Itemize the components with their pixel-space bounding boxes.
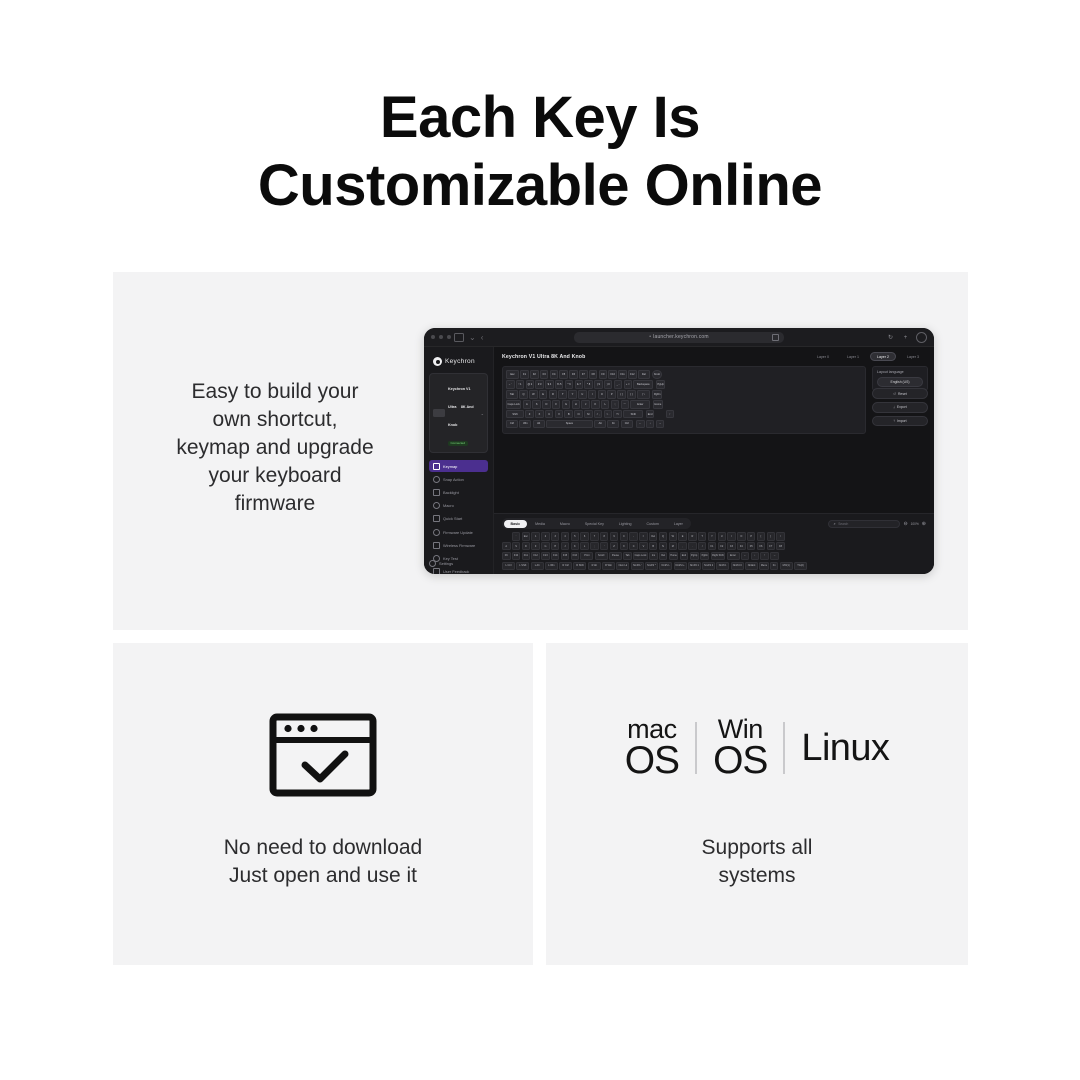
key-8[interactable]: * 8 [584,380,593,389]
sidebar-item-wireless-firmware[interactable]: Wireless Firmware [429,539,488,551]
key-0[interactable]: ) 0 [604,380,613,389]
key-picker-item[interactable]: I [727,532,736,541]
key-picker: BasicMediaMacroSpecial KeyLightingCustom… [494,513,934,574]
sidebar-item-snap-action[interactable]: Snap Action [429,473,488,485]
key-picker-item[interactable]: P [747,532,756,541]
sidebar-item-icon [433,515,440,522]
key-picker-item[interactable]: F1 [708,542,717,551]
key-picker-item[interactable]: Home [669,552,679,561]
key-picker-item[interactable]: Right Shift [711,552,726,561]
key-4[interactable]: $ 4 [545,380,554,389]
key-picker-item[interactable]: O [737,532,746,541]
sidebar-item-keymap[interactable]: Keymap [429,460,488,472]
key-picker-item[interactable]: R Alt [588,562,601,571]
new-tab-icon[interactable]: + [901,333,910,342]
no-download-caption-line-1: No need to download [113,834,533,862]
key-picker-item[interactable]: = [639,532,648,541]
key-picker-item[interactable]: Pause [609,552,622,561]
keyboard-row: EscF1F2F3F4F5F6F7F8F9F10F11F12DelKnob [506,370,862,379]
key-b[interactable]: B [564,410,573,419]
browser-right-controls[interactable]: ↻ + [886,332,927,343]
key-end[interactable]: End [646,410,655,419]
key-1[interactable]: ! 1 [516,380,525,389]
key-h[interactable]: H [572,400,581,409]
key-picker-item[interactable]: L [580,542,589,551]
key-picker-item[interactable]: 2 [541,532,550,541]
key-picker-item[interactable]: [ [757,532,766,541]
close-dot-icon[interactable] [431,335,435,339]
key-picker-item[interactable]: 4 [561,532,570,541]
key-picker-item[interactable]: F9 [502,552,511,561]
sidebar-toggle-icon[interactable] [454,333,464,342]
key-picker-item[interactable]: ; [590,542,599,551]
key-picker-item[interactable]: 6 [580,532,589,541]
key-picker-item[interactable]: MO(1) [780,562,793,571]
key-picker-item[interactable]: PgDn [700,552,709,561]
search-placeholder: Search [838,522,848,526]
page-title-line-2: Customizable Online [0,152,1080,220]
page-title-line-1: Each Key Is [0,84,1080,152]
key-arrow-down[interactable]: ↓ [646,420,655,429]
key-picker-grid: `Esc1234567890-=DelQWERTYUIOP[]\ASDFGHJK… [502,532,926,570]
key-picker-item[interactable]: 8 [600,532,609,541]
key-category-tab-macro[interactable]: Macro [553,520,577,528]
key-picker-item[interactable]: R Ctrl [559,562,572,571]
key-alt[interactable]: Alt [594,420,606,429]
key-picker-row: `Esc1234567890-=DelQWERTYUIOP[]\ [502,532,926,541]
keyboard-row: TabQWERTYUIOP{ [} ]| \PgDn [506,390,862,399]
sidebar-item-quick-start[interactable]: Quick Start [429,513,488,525]
key-ctrl[interactable]: Ctrl [621,420,633,429]
zoom-out-icon[interactable]: ⊖ [903,521,907,527]
keyboard-rows: EscF1F2F3F4F5F6F7F8F9F10F11F12DelKnob~ `… [506,370,862,428]
key-picker-item[interactable]: F4 [737,542,746,551]
key-[interactable]: > . [604,410,613,419]
key-picker-item[interactable]: K [571,542,580,551]
key-arrow-right[interactable]: → [656,420,665,429]
key-[interactable]: { [ [617,390,626,399]
sidebar-item-backlight[interactable]: Backlight [429,486,488,498]
key-category-tab-lighting[interactable]: Lighting [612,520,639,528]
key-picker-item[interactable]: ↑ [760,552,769,561]
winos-logo: Win OS [713,716,767,780]
key-ctrl[interactable]: Ctrl [506,420,518,429]
key-picker-item[interactable]: V [639,542,648,551]
sidebar-item-firmware-update[interactable]: Firmware Update [429,526,488,538]
key-q[interactable]: Q [519,390,528,399]
keychron-mark-icon [433,357,442,366]
layer-tab-layer-0[interactable]: Layer 0 [810,352,836,361]
key-picker-item[interactable]: 5 [571,532,580,541]
app-main: Keychron V1 Ultra 8K And Knob Layer 0Lay… [494,347,934,574]
right-panel: Layout language English (US) ↺Reset⤓Expo… [872,366,928,434]
key-picker-item[interactable]: F7 [767,542,776,551]
key-f12[interactable]: F12 [628,370,637,379]
key-picker-item[interactable]: Menu [759,562,768,571]
sidebar-item-label: Keymap [443,464,457,469]
sidebar-item-icon [433,542,440,549]
key-picker-item[interactable]: F [531,542,540,551]
key-picker-item[interactable]: J [561,542,570,551]
key-u[interactable]: U [578,390,587,399]
key-c[interactable]: C [545,410,554,419]
minimize-dot-icon[interactable] [439,335,443,339]
page-title: Each Key Is Customizable Online [0,84,1080,220]
key-picker-item[interactable]: Q [659,532,668,541]
key-picker-item[interactable]: ` [512,532,521,541]
key-picker-item[interactable]: Del [649,532,658,541]
chevron-down-icon[interactable]: ⌄ [481,411,484,416]
key-picker-item[interactable]: NmPd 1 [688,562,701,571]
key-picker-item[interactable]: - [629,532,638,541]
os-support-caption: Supports all systems [546,834,968,890]
key-picker-row: F9F10F11F12F13F14F15F16PrintScrollPauseT… [502,552,926,561]
browser-nav-controls[interactable]: ⌄ ‹ [454,333,483,342]
key-picker-item[interactable]: E [678,532,687,541]
key-picker-item[interactable]: → [770,552,779,561]
back-arrow-icon[interactable]: ‹ [481,334,484,342]
key-picker-item[interactable]: Num Lk [616,562,629,571]
key-picker-item[interactable]: ] [767,532,776,541]
key-f8[interactable]: F8 [589,370,598,379]
key-picker-item[interactable]: ← [741,552,750,561]
key-space[interactable]: Space [546,420,593,429]
key-pgdn[interactable]: PgDn [652,390,662,399]
key-picker-item[interactable]: M [669,542,678,551]
key-n[interactable]: N [574,410,583,419]
key-picker-item[interactable]: Print [580,552,593,561]
key-category-tab-custom[interactable]: Custom [639,520,665,528]
key-picker-item[interactable]: . [688,542,697,551]
key-picker-item[interactable]: F13 [541,552,550,561]
keyboard-row: ~ `! 1@ 2# 3$ 4% 5^ 6& 7* 8( 9) 0_ -+ =B… [506,380,862,389]
key-[interactable]: + = [624,380,633,389]
import-icon: ⤒ [893,419,895,423]
keyboard-row: ShiftZXCVBNM< ,> .? /ShiftEnd↑ [506,410,862,419]
key-backspace[interactable]: Backspace [633,380,653,389]
key-picker-item[interactable]: U [718,532,727,541]
os-logo-row: mac OS Win OS Linux [546,716,968,780]
key-picker-item[interactable]: L Shift [516,562,529,571]
key-p[interactable]: P [607,390,616,399]
launcher-blurb-line-4: your keyboard [140,462,410,490]
key-caps-lock[interactable]: Caps Lock [506,400,521,409]
key-picker-item[interactable]: R [688,532,697,541]
key-picker-item[interactable]: L Ctrl [502,562,515,571]
key-picker-item[interactable]: F11 [522,552,531,561]
key-home[interactable]: Home [653,400,663,409]
key-picker-item[interactable]: ↓ [751,552,760,561]
key-arrow-left[interactable]: ← [636,420,645,429]
key-picker-item[interactable]: NmPd - [659,562,672,571]
layout-language-box: Layout language English (US) [872,366,928,391]
import-button[interactable]: ⤒Import [872,416,928,427]
action-button-label: Import [897,419,907,423]
key-7[interactable]: & 7 [575,380,584,389]
key-esc[interactable]: Esc [506,370,519,379]
sidebar-item-label: Backlight [443,490,459,495]
feature-card-no-download [113,643,533,965]
key-picker-item[interactable]: F15 [561,552,570,561]
key-f9[interactable]: F9 [599,370,608,379]
browser-check-icon [269,713,377,797]
sidebar-item-label: Firmware Update [443,530,473,535]
key-picker-item[interactable]: NmPd 0 [731,562,744,571]
key-category-tab-media[interactable]: Media [528,520,552,528]
key-picker-item[interactable]: Esc [522,532,531,541]
feature-card-os-support [546,643,968,965]
device-selector[interactable]: Keychron V1 Ultra 8K And Knob Connected … [429,373,488,453]
key-pgup[interactable]: PgUp [656,380,666,389]
key-[interactable]: ~ ` [506,380,515,389]
reset-button[interactable]: ↺Reset [872,388,928,399]
browser-window-mock: ⌄ ‹ • launcher.keychron.com ↻ + Keychron… [424,328,934,574]
key-picker-item[interactable]: 0 [620,532,629,541]
keychron-logo: Keychron [433,357,488,366]
sidebar-item-icon [433,568,440,574]
arrow-cluster: ←↓→ [636,420,664,429]
export-button[interactable]: ⤓Export [872,402,928,413]
key-[interactable]: ? / [613,410,622,419]
key-picker-tools: ⌕ Search ⊖ 100% ⊕ [828,520,926,528]
sidebar-item-icon [433,502,440,509]
key-category-tab-special-key[interactable]: Special Key [578,520,611,528]
key-picker-item[interactable]: Enter [727,552,740,561]
key-picker-row: ASDFGHJKL;'ZXCVBNM,./F1F2F3F4F5F6F7F8 [502,542,926,551]
key-picker-item[interactable]: PgUp [690,552,699,561]
sidebar-item-macro[interactable]: Macro [429,500,488,512]
key-a[interactable]: A [523,400,532,409]
key-f4[interactable]: F4 [550,370,559,379]
key-picker-item[interactable]: A [502,542,511,551]
key-picker-item[interactable]: Ins [649,552,658,561]
key-enter[interactable]: Enter [630,400,650,409]
refresh-icon[interactable]: ↻ [886,333,895,342]
key-tab[interactable]: Tab [506,390,518,399]
key-f11[interactable]: F11 [618,370,627,379]
layer-tab-layer-3[interactable]: Layer 3 [900,352,926,361]
key-[interactable]: : ; [611,400,620,409]
key-picker-item[interactable]: G [541,542,550,551]
key-picker-item[interactable]: R Win [602,562,615,571]
key-del[interactable]: Del [638,370,650,379]
search-input[interactable]: ⌕ Search [828,520,900,528]
key-category-tabs: BasicMediaMacroSpecial KeyLightingCustom… [502,518,691,529]
key-picker-item[interactable]: T [698,532,707,541]
key-picker-item[interactable]: NmEnt [745,562,758,571]
key-y[interactable]: Y [568,390,577,399]
key-[interactable]: | \ [637,390,650,399]
gear-icon [429,560,436,567]
key-k[interactable]: K [591,400,600,409]
layer-tab-layer-2[interactable]: Layer 2 [870,352,896,361]
sidebar-item-label: Settings [439,561,453,566]
key-f7[interactable]: F7 [579,370,588,379]
tab-overview-icon[interactable] [916,332,927,343]
key-picker-item[interactable]: 7 [590,532,599,541]
key-picker-item[interactable]: F8 [776,542,785,551]
macos-logo-bottom: OS [625,741,679,780]
key-arrow-up[interactable]: ↑ [666,410,675,419]
key-picker-item[interactable]: F10 [512,552,521,561]
reader-mode-icon[interactable] [772,334,779,341]
key-picker-item[interactable]: F14 [551,552,560,561]
key-9[interactable]: ( 9 [594,380,603,389]
key-t[interactable]: T [558,390,567,399]
key-picker-item[interactable]: Fn [770,562,779,571]
key-f1[interactable]: F1 [520,370,529,379]
key-shift[interactable]: Shift [506,410,524,419]
launcher-blurb-line-1: Easy to build your [140,378,410,406]
key-picker-item[interactable]: D [522,542,531,551]
key-6[interactable]: ^ 6 [565,380,574,389]
layer-tab-layer-1[interactable]: Layer 1 [840,352,866,361]
action-button-label: Reset [898,392,907,396]
key-e[interactable]: E [539,390,548,399]
key-picker-item[interactable]: F5 [747,542,756,551]
key-g[interactable]: G [562,400,571,409]
action-buttons: ↺Reset⤓Export⤒Import [872,388,928,426]
key-m[interactable]: M [584,410,593,419]
keyboard-title: Keychron V1 Ultra 8K And Knob [502,354,585,360]
key-f2[interactable]: F2 [530,370,539,379]
key-z[interactable]: Z [525,410,534,419]
maximize-dot-icon[interactable] [447,335,451,339]
reset-icon: ↺ [893,392,896,396]
key-win[interactable]: Win [519,420,531,429]
key-f6[interactable]: F6 [569,370,578,379]
sidebar-item-settings[interactable]: Settings [429,560,453,567]
lock-icon: • [649,334,651,340]
key-f[interactable]: F [552,400,561,409]
key-picker-item[interactable]: 3 [551,532,560,541]
key-picker-item[interactable]: \ [776,532,785,541]
key-picker-item[interactable]: 9 [610,532,619,541]
key-picker-item[interactable]: Caps Lock [633,552,648,561]
key-alt[interactable]: Alt [533,420,545,429]
key-picker-item[interactable]: NmPd + [674,562,687,571]
key-picker-item[interactable]: X [620,542,629,551]
key-5[interactable]: % 5 [555,380,564,389]
key-picker-item[interactable]: Scroll [595,552,608,561]
key-v[interactable]: V [555,410,564,419]
zoom-in-icon[interactable]: ⊕ [922,521,926,527]
key-picker-item[interactable]: F16 [571,552,580,561]
key-picker-item[interactable]: S [512,542,521,551]
key-picker-item[interactable]: End [680,552,689,561]
action-button-label: Export [897,405,907,409]
search-icon: ⌕ [833,521,835,526]
address-bar-url: launcher.keychron.com [653,334,709,340]
key-[interactable]: _ - [614,380,623,389]
linux-logo: Linux [801,727,889,770]
key-category-tab-layer[interactable]: Layer [667,520,690,528]
key-picker-item[interactable]: L Alt [531,562,544,571]
key-picker-item[interactable]: Tab [623,552,632,561]
sidebar-item-icon [433,529,440,536]
address-bar[interactable]: • launcher.keychron.com [574,332,784,343]
key-f3[interactable]: F3 [540,370,549,379]
key-picker-item[interactable]: L Win [545,562,558,571]
winos-logo-bottom: OS [713,741,767,780]
key-picker-item[interactable]: NmPd * [645,562,658,571]
key-w[interactable]: W [529,390,538,399]
key-picker-item[interactable]: F6 [757,542,766,551]
keychron-launcher-app: Keychron Keychron V1 Ultra 8K And Knob C… [424,347,934,574]
key-knob[interactable]: Knob [652,370,661,379]
key-picker-item[interactable]: H [551,542,560,551]
main-header: Keychron V1 Ultra 8K And Knob Layer 0Lay… [494,347,934,361]
device-thumbnail-icon [433,409,445,417]
key-picker-item[interactable]: B [649,542,658,551]
key-shift[interactable]: Shift [623,410,643,419]
key-picker-item[interactable]: F2 [718,542,727,551]
key-f10[interactable]: F10 [608,370,617,379]
key-fn[interactable]: Fn [607,420,619,429]
layer-tabs: Layer 0Layer 1Layer 2Layer 3 [810,352,926,361]
key-picker-toolbar: BasicMediaMacroSpecial KeyLightingCustom… [502,518,926,529]
key-[interactable]: " ' [621,400,630,409]
key-j[interactable]: J [581,400,590,409]
export-icon: ⤓ [893,405,895,409]
key-picker-item[interactable]: ' [600,542,609,551]
key-picker-item[interactable]: / [698,542,707,551]
layout-language-label: Layout language [877,370,923,374]
brand-name: Keychron [445,358,475,365]
key-[interactable]: } ] [627,390,636,399]
key-picker-item[interactable]: Y [708,532,717,541]
key-2[interactable]: @ 2 [526,380,535,389]
key-picker-item[interactable]: W [669,532,678,541]
keyboard-row: Caps LockASDFGHJKL: ;" 'EnterHome [506,400,862,409]
window-traffic-lights[interactable] [431,335,451,339]
device-meta: Keychron V1 Ultra 8K And Knob Connected [448,377,478,449]
key-picker-spacer [502,532,511,541]
key-i[interactable]: I [588,390,597,399]
key-o[interactable]: O [598,390,607,399]
key-s[interactable]: S [532,400,541,409]
key-picker-item[interactable]: NmPd 2 [702,562,715,571]
key-picker-item[interactable]: , [678,542,687,551]
key-picker-item[interactable]: NmPd . [716,562,729,571]
key-picker-item[interactable]: F3 [727,542,736,551]
keyboard-layout[interactable]: EscF1F2F3F4F5F6F7F8F9F10F11F12DelKnob~ `… [502,366,866,434]
macos-logo: mac OS [625,716,679,780]
key-picker-item[interactable]: C [629,542,638,551]
key-d[interactable]: D [542,400,551,409]
key-l[interactable]: L [601,400,610,409]
key-picker-item[interactable]: Del [659,552,668,561]
key-picker-item[interactable]: F12 [531,552,540,561]
key-picker-item[interactable]: N [659,542,668,551]
sidebar-item-label: Wireless Firmware [443,543,475,548]
key-picker-item[interactable]: Z [610,542,619,551]
key-picker-item[interactable]: R Shift [573,562,586,571]
key-picker-item[interactable]: NmPd / [631,562,644,571]
key-f5[interactable]: F5 [559,370,568,379]
key-r[interactable]: R [549,390,558,399]
key-[interactable]: < , [594,410,603,419]
sidebar-item-label: User Feedback [443,569,469,574]
sidebar-item-icon [433,489,440,496]
key-x[interactable]: X [535,410,544,419]
key-category-tab-basic[interactable]: Basic [504,520,528,528]
key-picker-item[interactable]: TG(2) [794,562,807,571]
layout-language-value[interactable]: English (US) [877,377,923,387]
chevron-down-icon[interactable]: ⌄ [469,334,476,342]
key-picker-item[interactable]: 1 [531,532,540,541]
key-3[interactable]: # 3 [535,380,544,389]
